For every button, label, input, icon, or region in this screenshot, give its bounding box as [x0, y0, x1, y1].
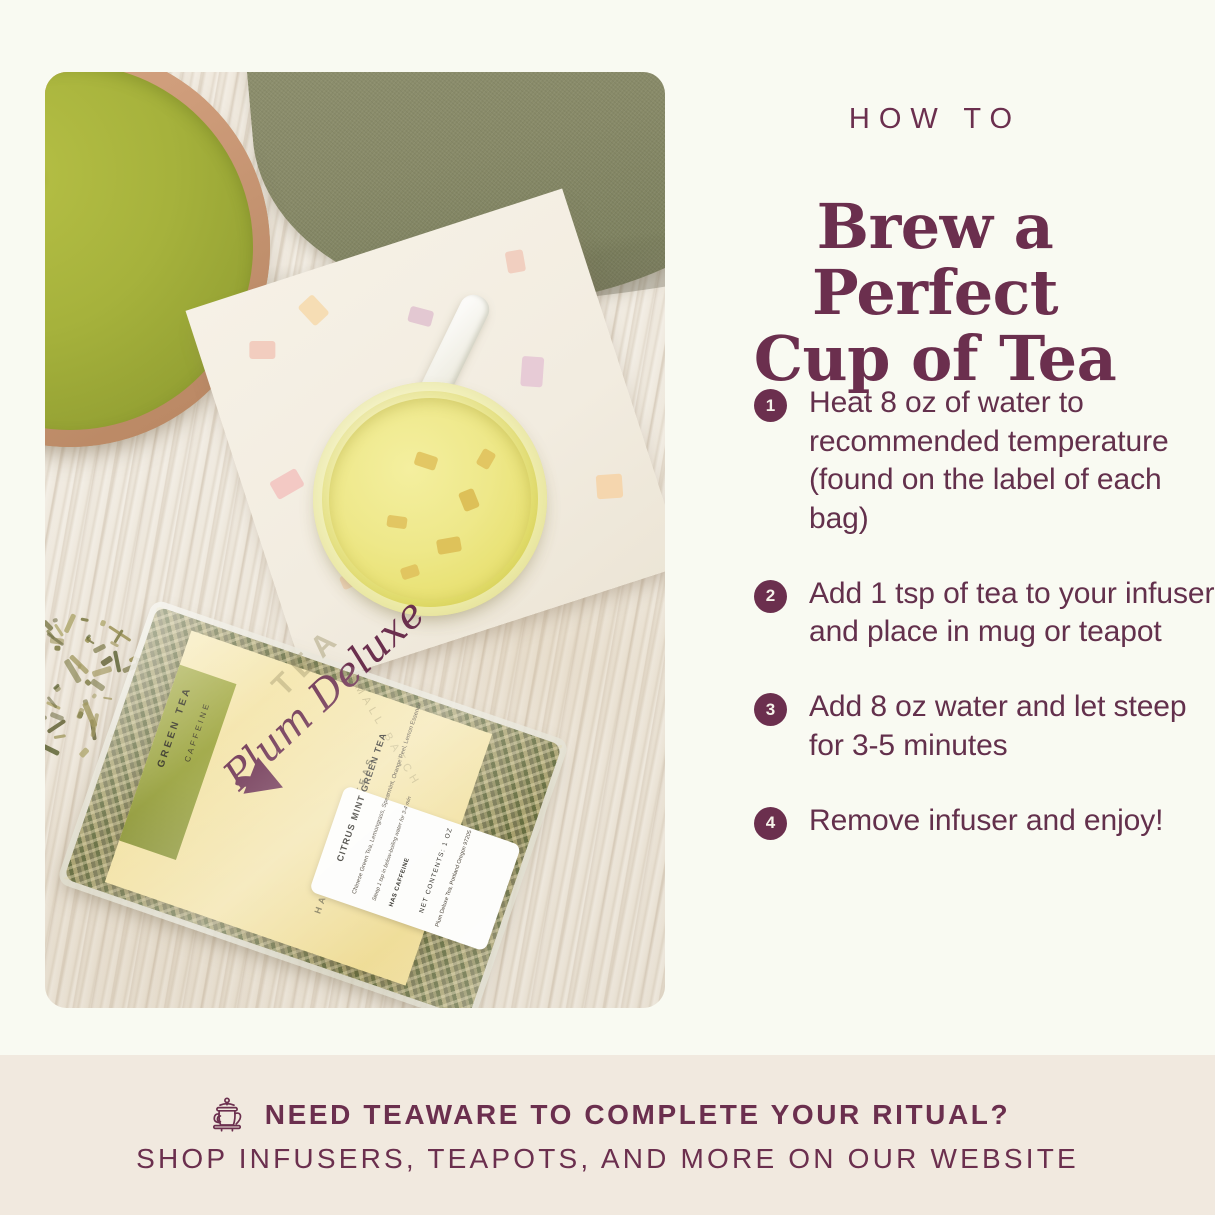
tea-leaf [91, 693, 97, 699]
tea-leaf [54, 646, 61, 651]
step-text: Add 1 tsp of tea to your infuser and pla… [809, 575, 1215, 652]
terrazzo-fleck [520, 356, 544, 387]
terrazzo-fleck [407, 306, 434, 328]
step-item-2: 2 Add 1 tsp of tea to your infuser and p… [754, 575, 1215, 652]
step-item-3: 3 Add 8 oz water and let steep for 3-5 m… [754, 688, 1215, 765]
tea-leaf-fleck [436, 536, 462, 555]
step-item-4: 4 Remove infuser and enjoy! [754, 802, 1215, 841]
terrazzo-fleck [596, 474, 624, 500]
step-number-badge: 3 [754, 693, 787, 726]
step-text: Remove infuser and enjoy! [809, 802, 1163, 841]
step-text: Heat 8 oz of water to recommended temper… [809, 384, 1215, 539]
tea-leaf [90, 679, 106, 693]
tea-leaf-fleck [475, 448, 496, 471]
instructions-panel: HOW TO Brew a Perfect Cup of Tea 1 Heat … [700, 0, 1215, 1055]
tea-leaf-fleck [458, 488, 480, 513]
tea-leaf [45, 743, 60, 756]
tea-leaf [63, 613, 76, 633]
tea-leaf [81, 618, 89, 623]
poster-root: GREEN TEA CAFFEINE HAND BLENDED TEAS TEA… [0, 0, 1215, 1215]
cta-banner[interactable]: NEED TEAWARE TO COMPLETE YOUR RITUAL? SH… [0, 1055, 1215, 1215]
tea-leaf-fleck [386, 515, 407, 530]
teapot-icon [205, 1095, 249, 1135]
step-number-badge: 2 [754, 580, 787, 613]
tea-leaf [54, 734, 66, 739]
cta-banner-row-1: NEED TEAWARE TO COMPLETE YOUR RITUAL? [205, 1095, 1010, 1135]
page-title: Brew a Perfect Cup of Tea [700, 194, 1170, 393]
step-text: Add 8 oz water and let steep for 3-5 min… [809, 688, 1215, 765]
terrazzo-fleck [269, 468, 305, 500]
tea-leaf [79, 747, 90, 758]
brewed-tea-liquid [329, 398, 531, 600]
tea-leaf [54, 624, 64, 637]
tea-leaf [92, 666, 113, 677]
glass-cup-of-tea [313, 382, 547, 616]
tea-leaf [50, 711, 64, 720]
tea-leaf [45, 715, 48, 721]
tea-leaf [103, 697, 112, 701]
terrazzo-fleck [297, 294, 329, 327]
eyebrow-label: HOW TO [700, 103, 1170, 136]
cta-subline: SHOP INFUSERS, TEAPOTS, AND MORE ON OUR … [136, 1143, 1079, 1175]
terrazzo-fleck [249, 341, 275, 359]
step-number-badge: 4 [754, 807, 787, 840]
tea-leaf [46, 718, 66, 733]
tea-leaf [100, 655, 113, 666]
terrazzo-fleck [505, 249, 527, 274]
tea-leaf [53, 617, 59, 622]
hero-photo: GREEN TEA CAFFEINE HAND BLENDED TEAS TEA… [45, 72, 665, 1008]
step-item-1: 1 Heat 8 oz of water to recommended temp… [754, 384, 1215, 539]
title-line-1: Brew a Perfect [812, 190, 1058, 329]
tea-leaf-fleck [400, 564, 421, 581]
steps-list: 1 Heat 8 oz of water to recommended temp… [714, 384, 1215, 840]
step-number-badge: 1 [754, 389, 787, 422]
tea-leaf [112, 650, 121, 673]
tea-leaf [100, 620, 106, 627]
tea-leaf [93, 644, 107, 655]
tea-leaf-fleck [413, 451, 438, 471]
cta-headline: NEED TEAWARE TO COMPLETE YOUR RITUAL? [265, 1099, 1010, 1131]
